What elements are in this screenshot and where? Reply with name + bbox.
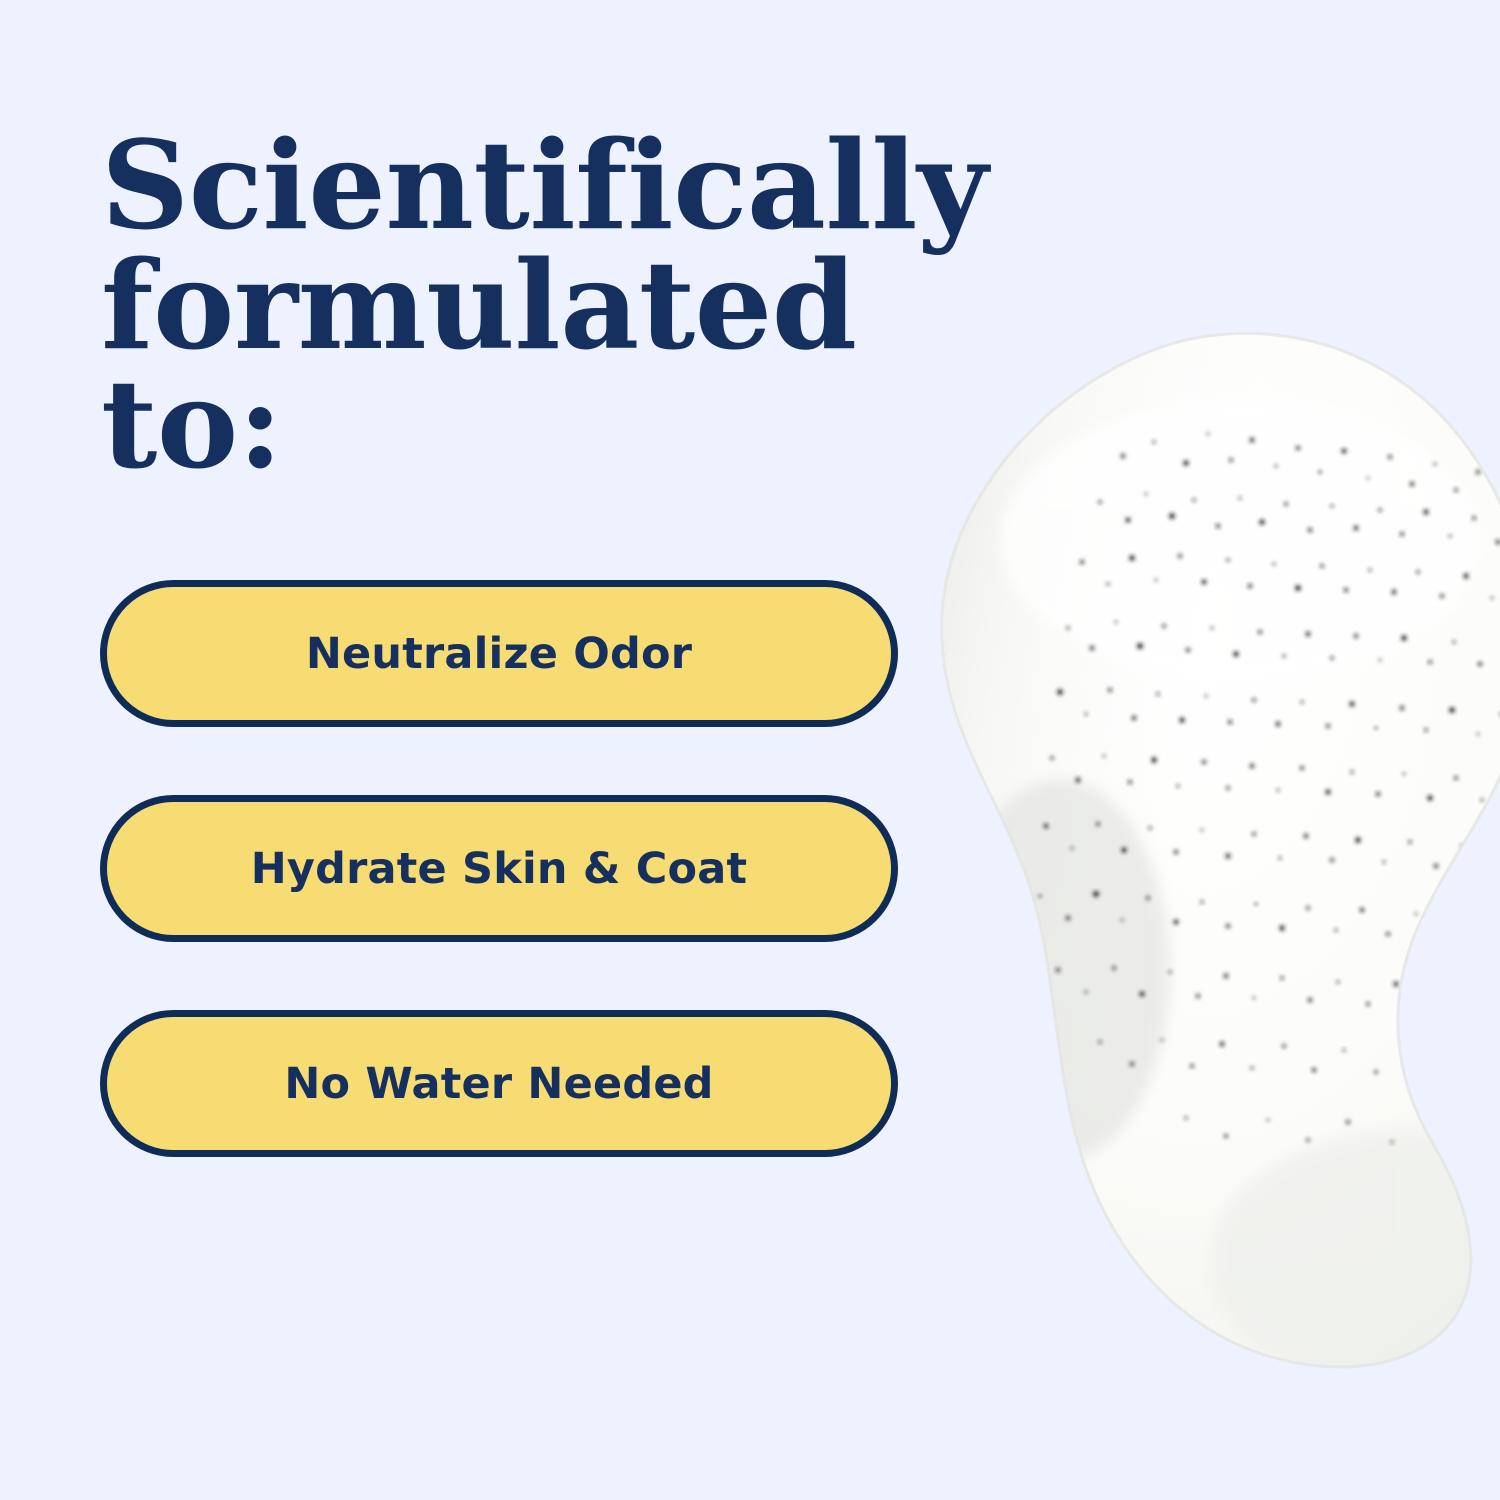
benefit-pill-hydrate-skin-coat[interactable]: Hydrate Skin & Coat bbox=[100, 795, 898, 942]
promo-canvas: Scientifically formulated to: Neutralize… bbox=[0, 0, 1500, 1500]
benefit-label: Hydrate Skin & Coat bbox=[251, 844, 748, 894]
benefit-label: Neutralize Odor bbox=[306, 629, 692, 679]
benefit-pill-no-water-needed[interactable]: No Water Needed bbox=[100, 1010, 898, 1157]
benefit-list: Neutralize Odor Hydrate Skin & Coat No W… bbox=[100, 580, 898, 1157]
cream-blob-illustration bbox=[940, 330, 1500, 1370]
benefit-pill-neutralize-odor[interactable]: Neutralize Odor bbox=[100, 580, 898, 727]
benefit-label: No Water Needed bbox=[284, 1059, 713, 1109]
page-title: Scientifically formulated to: bbox=[101, 126, 1001, 485]
